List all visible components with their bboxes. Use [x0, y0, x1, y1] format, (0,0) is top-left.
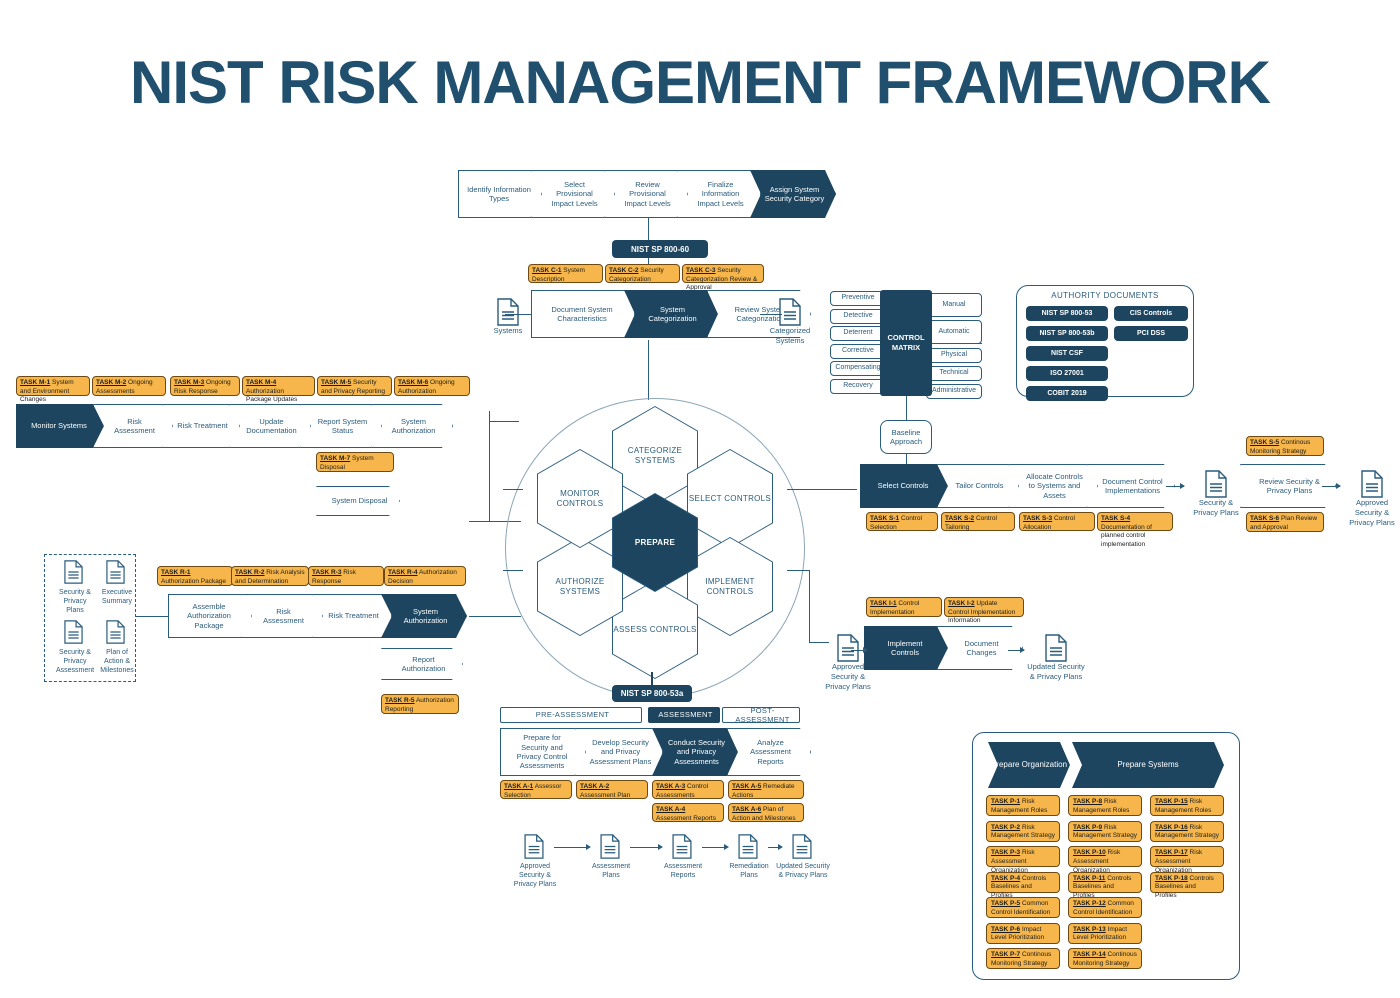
doc-security-privacy-plans: Security & Privacy Plans [1186, 470, 1246, 518]
task-id: TASK R-3 [312, 569, 342, 576]
task-task-s-4: TASK S-4 Documentation of planned contro… [1097, 512, 1173, 531]
doc-caption: Security & Privacy Assessment [54, 648, 96, 675]
control-type-recovery: Recovery [830, 379, 886, 394]
task-task-r-4: TASK R-4 Authorization Decision [384, 566, 466, 586]
task-task-p-4: TASK P-4 Controls Baselines and Profiles [986, 872, 1060, 893]
hex-prepare[interactable]: PREPARE [612, 493, 698, 592]
authority-doc-nist-sp-800-53: NIST SP 800-53 [1026, 306, 1108, 321]
doc-remediation-plans: Remediation Plans [722, 834, 776, 880]
doc-updated-security-privacy-plans: Updated Security & Privacy Plans [776, 834, 830, 880]
monitor-step-update-documentation: Update Documentation [229, 404, 311, 448]
connector [469, 616, 521, 617]
task-id: TASK R-2 [235, 569, 265, 576]
impact-step-select-provisional-impact-levels: Select Provisional Impact Levels [531, 170, 615, 218]
document-icon [524, 834, 546, 862]
connector [505, 314, 531, 315]
task-task-p-5: TASK P-5 Common Control Identification [986, 897, 1060, 918]
task-task-s-5: TASK S-5 Continous Monitoring Strategy [1246, 436, 1324, 456]
document-icon [64, 560, 86, 588]
doc-caption: Systems [494, 326, 523, 336]
connector [136, 616, 168, 617]
task-id: TASK P-7 [991, 951, 1020, 958]
connector [809, 570, 810, 642]
task-id: TASK P-6 [991, 926, 1020, 933]
document-icon [1045, 634, 1067, 662]
task-id: TASK A-1 [504, 783, 533, 790]
assessment-step-prepare-for-security-and-privacy-control-assessments: Prepare for Security and Privacy Control… [500, 728, 586, 776]
doc-caption: Plan of Action & Milestones [96, 648, 138, 675]
control-matrix-core: CONTROL MATRIX [880, 290, 932, 396]
control-type-corrective: Corrective [830, 344, 886, 359]
task-id: TASK S-3 [1023, 515, 1052, 522]
control-type-compensating: Compensating [830, 361, 886, 376]
task-id: TASK C-1 [532, 267, 562, 274]
control-impl-automatic: Automatic [926, 320, 982, 344]
doc-updated-plans: Updated Security & Privacy Plans [1026, 634, 1086, 682]
task-task-p-16: TASK P-16 Risk Management Strategy [1150, 821, 1224, 842]
task-task-p-17: TASK P-17 Risk Assessment Organization [1150, 846, 1224, 867]
select-step-allocate-controls-to-systems-and-assets: Allocate Controls to Systems and Assets [1008, 464, 1098, 508]
document-icon [672, 834, 694, 862]
monitor-step-risk-assessment: Risk Assessment [93, 404, 173, 448]
connector [489, 411, 490, 521]
assessment-phase-pre-assessment: PRE-ASSESSMENT [500, 707, 642, 723]
control-type-deterrent: Deterrent [830, 326, 886, 341]
task-id: TASK A-6 [732, 806, 761, 813]
task-id: TASK P-3 [991, 849, 1020, 856]
task-id: TASK P-9 [1073, 824, 1102, 831]
standard-badge-sp800-53a: NIST SP 800-53a [612, 685, 692, 702]
control-impl-technical: Technical [926, 366, 982, 381]
document-icon [837, 634, 859, 662]
task-task-p-15: TASK P-15 Risk Management Roles [1150, 795, 1224, 816]
authority-doc-nist-csf: NIST CSF [1026, 346, 1108, 361]
task-r-5: TASK R-5 Authorization Reporting [381, 694, 459, 714]
task-task-i-2: TASK I-2 Update Control Implementation I… [944, 597, 1024, 617]
task-text: Assessment Reports [656, 815, 716, 822]
arrow-head [863, 647, 868, 653]
arrow-head [1336, 483, 1341, 489]
task-task-m-2: TASK M-2 Ongoing Assessments [92, 376, 166, 396]
task-id: TASK S-5 [1250, 439, 1279, 446]
control-impl-administrative: Administrative [926, 384, 982, 399]
doc-assessment-plans: Assessment Plans [584, 834, 638, 880]
task-id: TASK P-13 [1073, 926, 1106, 933]
categorize-step-document-system-characteristics: Document System Characteristics [531, 290, 635, 338]
authority-doc-cobit-2019: COBIT 2019 [1026, 386, 1108, 401]
assessment-phase-assessment: ASSESSMENT [648, 707, 720, 723]
monitor-step-monitor-systems: Monitor Systems [16, 404, 104, 448]
authority-documents-title: AUTHORITY DOCUMENTS [1016, 291, 1194, 301]
connector [554, 847, 587, 848]
task-id: TASK C-3 [686, 267, 716, 274]
task-task-p-3: TASK P-3 Risk Assessment Organization [986, 846, 1060, 867]
task-task-p-14: TASK P-14 Continous Monitoring Strategy [1068, 948, 1142, 969]
task-task-c-2: TASK C-2 Security Categorization [605, 264, 680, 283]
connector [503, 570, 523, 571]
prepare-organization-chevron: Prepare Organization [988, 742, 1070, 788]
doc-approved-security-privacy-plans: Approved Security & Privacy Plans [508, 834, 562, 889]
connector [648, 217, 649, 240]
rmf-wheel: CATEGORIZE SYSTEMS SELECT CONTROLS IMPLE… [505, 398, 805, 698]
task-task-p-6: TASK P-6 Impact Level Prioritization [986, 923, 1060, 944]
connector [648, 340, 649, 400]
task-id: TASK S-6 [1250, 515, 1279, 522]
doc-plan-of-action-milestones: Plan of Action & Milestones [96, 620, 138, 675]
task-id: TASK M-2 [96, 379, 126, 386]
monitor-step-risk-treatment: Risk Treatment [162, 404, 240, 448]
arrow-head [1180, 483, 1185, 489]
task-id: TASK P-16 [1155, 824, 1188, 831]
document-icon [1361, 470, 1383, 498]
task-id: TASK A-5 [732, 783, 761, 790]
task-id: TASK M-1 [20, 379, 50, 386]
task-id: TASK R-1 [161, 569, 191, 576]
task-text: Authorization Package [161, 578, 226, 585]
connector [503, 489, 523, 490]
doc-caption: Categorized Systems [760, 326, 820, 346]
doc-caption: Updated Security & Privacy Plans [776, 862, 830, 880]
task-id: TASK P-2 [991, 824, 1020, 831]
document-icon [779, 298, 801, 326]
task-id: TASK C-2 [609, 267, 639, 274]
authority-doc-nist-sp-800-53b: NIST SP 800-53b [1026, 326, 1108, 341]
task-id: TASK P-17 [1155, 849, 1188, 856]
task-task-m-5: TASK M-5 Security and Privacy Reporting [317, 376, 392, 396]
task-id: TASK I-1 [870, 600, 897, 607]
impact-step-review-provisional-impact-levels: Review Provisional Impact Levels [604, 170, 688, 218]
document-icon [106, 560, 128, 588]
doc-security-privacy-assessment: Security & Privacy Assessment [54, 620, 96, 675]
page-title: NIST RISK MANAGEMENT FRAMEWORK [0, 48, 1400, 117]
hex-assess-controls[interactable]: ASSESS CONTROLS [612, 580, 698, 679]
standard-badge-sp800-60: NIST SP 800-60 [612, 240, 708, 258]
task-task-p-8: TASK P-8 Risk Management Roles [1068, 795, 1142, 816]
document-icon [792, 834, 814, 862]
task-id: TASK S-1 [870, 515, 899, 522]
task-task-p-9: TASK P-9 Risk Management Strategy [1068, 821, 1142, 842]
task-id: TASK P-10 [1073, 849, 1106, 856]
doc-caption: Assessment Reports [656, 862, 710, 880]
task-text: Assessment Plan [580, 792, 630, 799]
connector [787, 489, 857, 490]
prepare-systems-chevron: Prepare Systems [1072, 742, 1224, 788]
task-m-7: TASK M-7 System Disposal [316, 452, 394, 472]
doc-caption: Assessment Plans [584, 862, 638, 880]
control-type-preventive: Preventive [830, 291, 886, 306]
task-task-c-3: TASK C-3 Security Categorization Review … [682, 264, 764, 283]
document-icon [497, 298, 519, 326]
task-task-s-3: TASK S-3 Control Allocation [1019, 512, 1095, 531]
doc-caption: Approved Security & Privacy Plans [1342, 498, 1400, 527]
task-id: TASK P-12 [1073, 900, 1106, 907]
task-task-s-1: TASK S-1 Control Selection [866, 512, 938, 531]
arrow-head [1020, 647, 1025, 653]
authority-doc-iso-27001: ISO 27001 [1026, 366, 1108, 381]
doc-approved-security-privacy-plans: Approved Security & Privacy Plans [1342, 470, 1400, 527]
select-step-select-controls: Select Controls [860, 464, 948, 508]
hex-implement-controls[interactable]: IMPLEMENT CONTROLS [687, 537, 773, 636]
task-id: TASK R-4 [388, 569, 418, 576]
task-task-m-4: TASK M-4 Authorization Package Updates [242, 376, 315, 396]
monitor-step-system-authorization: System Authorization [371, 404, 453, 448]
task-id: TASK S-2 [945, 515, 974, 522]
monitor-step-report-system-status: Report System Status [300, 404, 382, 448]
hex-select-controls[interactable]: SELECT CONTROLS [687, 449, 773, 548]
authorize-step-risk-assessment: Risk Assessment [241, 594, 323, 638]
task-id: TASK P-1 [991, 798, 1020, 805]
select-step-document-control-implementations: Document Control Implementations [1087, 464, 1175, 508]
doc-assessment-reports: Assessment Reports [656, 834, 710, 880]
task-task-a-5: TASK A-5 Remediate Actions [728, 780, 804, 799]
authorize-step-system-authorization: System Authorization [381, 594, 467, 638]
connector [787, 570, 809, 571]
task-task-m-3: TASK M-3 Ongoing Risk Response [170, 376, 240, 396]
task-id: TASK P-8 [1073, 798, 1102, 805]
doc-executive-summary: Executive Summary [96, 560, 138, 606]
task-task-p-7: TASK P-7 Continous Monitoring Strategy [986, 948, 1060, 969]
assessment-step-conduct-security-and-privacy-assessments: Conduct Security and Privacy Assessments [652, 728, 738, 776]
task-task-a-1: TASK A-1 Assessor Selection [500, 780, 572, 799]
doc-caption: Approved Security & Privacy Plans [818, 662, 878, 691]
doc-systems: Systems [478, 298, 538, 336]
document-icon [1205, 470, 1227, 498]
control-type-detective: Detective [830, 309, 886, 324]
control-impl-manual: Manual [926, 293, 982, 317]
task-id: TASK A-2 [580, 783, 609, 790]
impact-step-identify-information-types: Identify Information Types [458, 170, 542, 218]
document-icon [600, 834, 622, 862]
task-task-a-3: TASK A-3 Control Assessments [652, 780, 724, 799]
task-id: TASK M-3 [174, 379, 204, 386]
task-id: TASK M-5 [321, 379, 351, 386]
assessment-step-analyze-assessment-reports: Analyze Assessment Reports [727, 728, 811, 776]
baseline-approach-node: Baseline Approach [880, 420, 932, 454]
task-id: TASK A-3 [656, 783, 685, 790]
assessment-phase-post-assessment: POST-ASSESSMENT [722, 707, 800, 723]
task-task-r-2: TASK R-2 Risk Analysis and Determination [231, 566, 309, 586]
hex-monitor-controls[interactable]: MONITOR CONTROLS [537, 449, 623, 548]
impact-step-assign-system-security-category: Assign System Security Category [750, 170, 836, 218]
task-text: Documentation of planned control impleme… [1101, 524, 1152, 548]
task-task-i-1: TASK I-1 Control Implementation [866, 597, 942, 617]
doc-categorized-systems: Categorized Systems [760, 298, 820, 346]
task-task-r-1: TASK R-1 Authorization Package [157, 566, 233, 586]
doc-caption: Approved Security & Privacy Plans [508, 862, 562, 889]
task-text: Authorization Package Updates [246, 388, 297, 404]
task-task-p-11: TASK P-11 Controls Baselines and Profile… [1068, 872, 1142, 893]
categorize-step-system-categorization: System Categorization [624, 290, 718, 338]
document-icon [64, 620, 86, 648]
task-id: TASK A-4 [656, 806, 685, 813]
task-task-p-10: TASK P-10 Risk Assessment Organization [1068, 846, 1142, 867]
task-task-a-4: TASK A-4 Assessment Reports [652, 803, 724, 822]
select-step-tailor-controls: Tailor Controls [937, 464, 1019, 508]
task-id: TASK P-5 [991, 900, 1020, 907]
task-task-r-3: TASK R-3 Risk Response [308, 566, 384, 586]
task-id: TASK I-2 [948, 600, 975, 607]
task-id: TASK P-4 [991, 875, 1020, 882]
task-id: TASK P-11 [1073, 875, 1105, 882]
task-task-s-2: TASK S-2 Control Tailoring [941, 512, 1015, 531]
authorize-step-risk-treatment: Risk Treatment [312, 594, 392, 638]
task-id: TASK M-4 [246, 379, 276, 386]
hex-categorize-systems[interactable]: CATEGORIZE SYSTEMS [612, 406, 698, 505]
document-icon [106, 620, 128, 648]
task-task-m-6: TASK M-6 Ongoing Authorization [394, 376, 470, 396]
doc-caption: Updated Security & Privacy Plans [1026, 662, 1086, 682]
task-task-s-6: TASK S-6 Plan Review and Approval [1246, 512, 1324, 532]
authority-doc-pci-dss: PCI DSS [1114, 326, 1188, 341]
assessment-step-develop-security-and-privacy-assessment-plans: Develop Security and Privacy Assessment … [575, 728, 663, 776]
connector [906, 396, 907, 420]
task-id: TASK S-4 [1101, 515, 1130, 522]
task-id: TASK M-6 [398, 379, 428, 386]
doc-caption: Security & Privacy Plans [1186, 498, 1246, 518]
connector [760, 314, 782, 315]
task-task-p-1: TASK P-1 Risk Management Roles [986, 795, 1060, 816]
authorize-step-report-authorization: Report Authorization [381, 648, 463, 680]
monitor-step-system-disposal: System Disposal [316, 486, 400, 516]
authority-doc-cis-controls: CIS Controls [1114, 306, 1188, 321]
task-task-c-1: TASK C-1 System Description [528, 264, 603, 283]
connector [932, 343, 982, 344]
hex-authorize-systems[interactable]: AUTHORIZE SYSTEMS [537, 537, 623, 636]
doc-caption: Remediation Plans [722, 862, 776, 880]
impact-step-finalize-information-impact-levels: Finalize Information Impact Levels [677, 170, 761, 218]
document-icon [738, 834, 760, 862]
task-task-p-2: TASK P-2 Risk Management Strategy [986, 821, 1060, 842]
task-task-a-6: TASK A-6 Plan of Action and Milestones [728, 803, 804, 822]
task-task-p-13: TASK P-13 Impact Level Prioritization [1068, 923, 1142, 944]
doc-caption: Security & Privacy Plans [54, 588, 96, 615]
doc-security-privacy-plans: Security & Privacy Plans [54, 560, 96, 615]
doc-caption: Executive Summary [96, 588, 138, 606]
task-task-p-12: TASK P-12 Common Control Identification [1068, 897, 1142, 918]
task-id: TASK P-15 [1155, 798, 1188, 805]
authorize-step-assemble-authorization-package: Assemble Authorization Package [168, 594, 252, 638]
task-id: TASK P-18 [1155, 875, 1188, 882]
task-id: TASK P-14 [1073, 951, 1106, 958]
control-impl-physical: Physical [926, 348, 982, 363]
task-task-a-2: TASK A-2 Assessment Plan [576, 780, 648, 799]
doc-approved-plans-implement: Approved Security & Privacy Plans [818, 634, 878, 691]
task-task-m-1: TASK M-1 System and Environment Changes [16, 376, 90, 396]
implement-step-document-changes: Document Changes [937, 626, 1023, 670]
connector [630, 847, 659, 848]
task-task-p-18: TASK P-18 Controls Baselines and Profile… [1150, 872, 1224, 893]
